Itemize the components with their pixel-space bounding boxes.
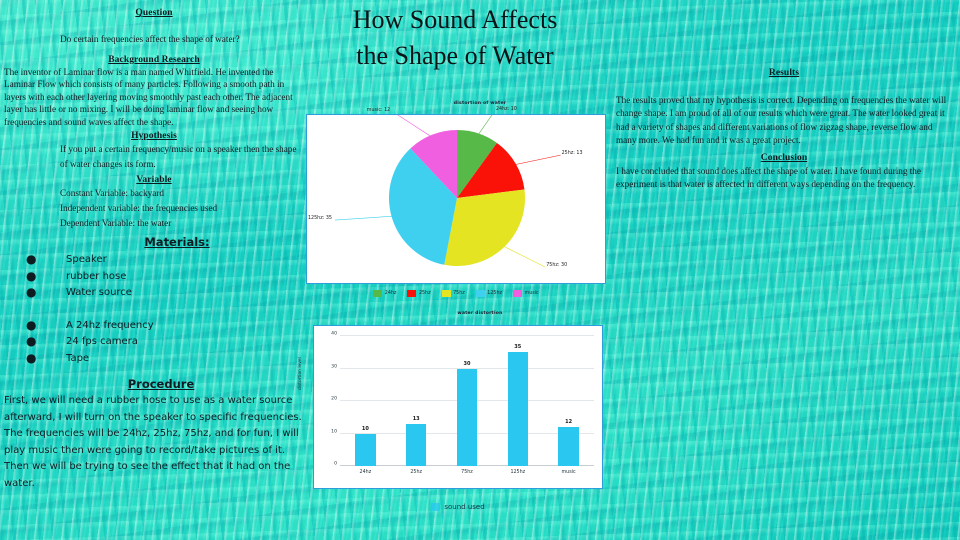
legend-label: 125hz — [487, 291, 502, 296]
material-label: A 24hz frequency — [66, 320, 154, 331]
left-column: Question Do certain frequencies affect t… — [4, 8, 304, 492]
legend-swatch-icon — [407, 290, 416, 297]
bar-chart-panel: 0102030401024hz1325hz3075hz35125hz12musi… — [313, 325, 603, 489]
x-axis-tick-125hz: 125hz — [510, 470, 525, 475]
legend-item-music[interactable]: music — [513, 290, 539, 297]
bullet-icon: ● — [26, 350, 36, 367]
legend-swatch-icon — [373, 290, 382, 297]
bar-value-label: 30 — [457, 361, 477, 367]
conclusion-heading: Conclusion — [616, 153, 952, 163]
bar-chart-legend: sound used — [313, 503, 603, 511]
conclusion-text: I have concluded that sound does affect … — [616, 165, 952, 192]
bullet-icon: ● — [26, 268, 36, 285]
pie-chart-svg — [307, 115, 607, 282]
pie-slice-label-25hz: 25hz: 13 — [562, 151, 583, 156]
bar-music[interactable] — [558, 427, 578, 466]
material-label: rubber hose — [66, 271, 126, 282]
procedure-text: First, we will need a rubber hose to use… — [4, 393, 304, 492]
variable-constant: Constant Variable: backyard — [60, 186, 304, 201]
list-item: ●A 24hz frequency — [4, 318, 304, 335]
y-axis-tick: 10 — [331, 429, 337, 434]
material-label: Water source — [66, 287, 132, 298]
bar-value-label: 13 — [406, 416, 426, 422]
pie-chart-canvas: 24hz: 1025hz: 1375hz: 30125hz: 35music: … — [307, 115, 605, 283]
pie-leader-line — [335, 216, 395, 220]
pie-leader-line — [501, 245, 545, 267]
legend-item-24hz[interactable]: 24hz — [373, 290, 396, 297]
bar-75hz[interactable] — [457, 369, 477, 467]
bar-value-label: 10 — [355, 426, 375, 432]
bar-chart-plot-area: 0102030401024hz1325hz3075hz35125hz12musi… — [340, 336, 594, 466]
material-label: Tape — [66, 353, 89, 364]
pie-slice-label-24hz: 24hz: 10 — [496, 107, 517, 112]
list-item: ●Speaker — [4, 252, 304, 269]
legend-swatch-icon — [431, 503, 440, 511]
bar-24hz[interactable] — [355, 434, 375, 467]
y-axis-tick: 0 — [334, 462, 337, 467]
legend-item-25hz[interactable]: 25hz — [407, 290, 430, 297]
variable-heading: Variable — [4, 175, 304, 185]
variable-list: Constant Variable: backyard Independent … — [60, 186, 304, 231]
material-label: 24 fps camera — [66, 336, 138, 347]
bar-value-label: 12 — [558, 419, 578, 425]
legend-item-125hz[interactable]: 125hz — [476, 290, 502, 297]
y-axis-tick: 30 — [331, 364, 337, 369]
bar-25hz[interactable] — [406, 424, 426, 466]
x-axis-tick-24hz: 24hz — [360, 470, 372, 475]
materials-list: ●Speaker ● rubber hose ●Water source ●A … — [4, 252, 304, 367]
pie-leader-line — [513, 155, 561, 165]
hypothesis-heading: Hypothesis — [4, 131, 304, 141]
legend-swatch-icon — [476, 290, 485, 297]
legend-item-75hz[interactable]: 75hz — [442, 290, 465, 297]
pie-leader-line — [477, 115, 495, 137]
bar-value-label: 35 — [508, 344, 528, 350]
x-axis-tick-75hz: 75hz — [461, 470, 473, 475]
legend-swatch-icon — [513, 290, 522, 297]
pie-slice-label-music: music: 12 — [367, 108, 390, 113]
bullet-icon: ● — [26, 251, 36, 268]
pie-chart-title: distortion of water — [0, 101, 960, 106]
legend-label: sound used — [444, 503, 484, 511]
pie-chart-panel: 24hz: 1025hz: 1375hz: 30125hz: 35music: … — [306, 114, 606, 284]
pie-leader-line — [393, 115, 433, 138]
background-research-text: The inventor of Laminar flow is a man na… — [4, 66, 304, 128]
legend-label: 75hz — [453, 291, 465, 296]
legend-label: 25hz — [419, 291, 431, 296]
bullet-icon: ● — [26, 284, 36, 301]
background-research-heading: Background Research — [4, 55, 304, 65]
variable-dependent: Dependent Variable: the water — [60, 216, 304, 231]
x-axis-tick-25hz: 25hz — [410, 470, 422, 475]
x-axis-tick-music: music — [562, 470, 576, 475]
material-label: Speaker — [66, 254, 107, 265]
bar-125hz[interactable] — [508, 352, 528, 466]
pie-chart-legend: 24hz25hz75hz125hzmusic — [306, 290, 606, 297]
pie-slice-label-125hz: 125hz: 35 — [308, 216, 332, 221]
legend-label: music — [525, 291, 539, 296]
list-item: ● rubber hose — [4, 269, 304, 286]
right-column: Results The results proved that my hypot… — [616, 68, 952, 191]
hypothesis-text: If you put a certain frequency/music on … — [60, 142, 304, 172]
list-item: ●Water source — [4, 285, 304, 302]
bar-chart-y-axis-label: distortion level — [298, 357, 303, 390]
y-axis-tick: 20 — [331, 397, 337, 402]
procedure-heading: Procedure — [4, 377, 304, 391]
page-title-line-2: the Shape of Water — [305, 38, 605, 74]
list-item: ●Tape — [4, 351, 304, 368]
legend-label: 24hz — [385, 291, 397, 296]
page-title-line-1: How Sound Affects — [305, 2, 605, 38]
list-item: ●24 fps camera — [4, 334, 304, 351]
question-heading: Question — [4, 8, 304, 18]
y-axis-tick: 40 — [331, 332, 337, 337]
legend-swatch-icon — [442, 290, 451, 297]
gridline — [340, 335, 594, 336]
variable-independent: Independent variable: the frequencies us… — [60, 201, 304, 216]
pie-slice-label-75hz: 75hz: 30 — [546, 263, 567, 268]
bullet-icon: ● — [26, 317, 36, 334]
page-title: How Sound Affects the Shape of Water — [305, 2, 605, 74]
bullet-icon: ● — [26, 333, 36, 350]
results-heading: Results — [616, 68, 952, 78]
poster-canvas: How Sound Affects the Shape of Water Que… — [0, 0, 960, 540]
question-text: Do certain frequencies affect the shape … — [60, 32, 304, 47]
materials-heading: Materials: — [4, 235, 304, 249]
bar-chart-title: water distortion — [0, 311, 960, 316]
